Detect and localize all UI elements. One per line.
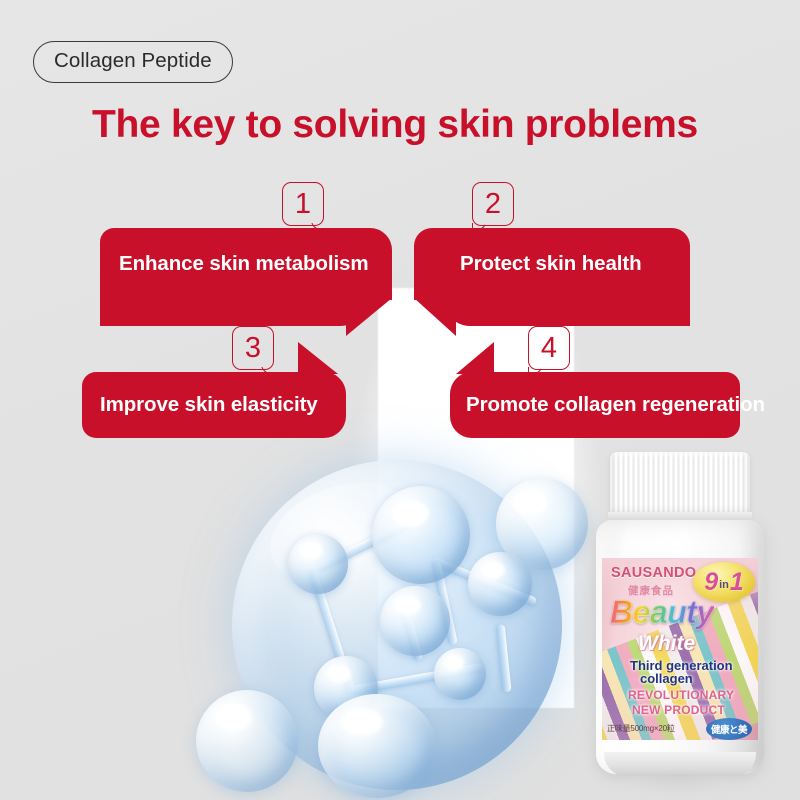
benefit-number-4-text: 4 — [541, 334, 557, 363]
product-tagline-line2: NEW PRODUCT — [632, 703, 725, 717]
callout-pointer-icon — [346, 298, 392, 336]
benefit-number-3: 3 — [232, 326, 274, 370]
category-badge: Collagen Peptide — [33, 41, 233, 83]
benefit-label-2: Protect skin health — [460, 252, 642, 276]
benefit-number-2: 2 — [472, 182, 514, 226]
callout-pointer-icon — [298, 342, 338, 374]
product-net-weight: 正味量500mg×20粒 — [607, 723, 675, 734]
molecule-bond — [308, 569, 356, 694]
product-name-white: White — [638, 632, 695, 656]
bottle-reflection — [618, 774, 742, 800]
benefit-number-1-text: 1 — [295, 190, 311, 219]
benefit-label-3: Improve skin elasticity — [100, 393, 318, 417]
benefit-callout-3[interactable]: Improve skin elasticity — [82, 372, 346, 438]
page-title: The key to solving skin problems — [92, 103, 698, 147]
nine-in-one-badge: 9 in 1 — [693, 562, 755, 602]
product-descriptor-line2: collagen — [640, 671, 693, 686]
badge-count: 9 — [704, 570, 718, 595]
product-bottle[interactable]: SAUSANDO 健康食品 Beauty White Third generat… — [592, 452, 768, 782]
product-name-beauty: Beauty — [610, 594, 714, 631]
badge-connector: in — [719, 580, 729, 591]
callout-curve — [100, 298, 366, 326]
benefit-label-1: Enhance skin metabolism — [119, 252, 368, 276]
benefit-callout-4[interactable]: Promote collagen regeneration — [450, 372, 740, 438]
benefit-number-2-text: 2 — [485, 190, 501, 219]
benefit-label-4: Promote collagen regeneration — [466, 393, 765, 417]
benefit-number-1: 1 — [282, 182, 324, 226]
floating-bubble — [196, 690, 298, 792]
bottle-body: SAUSANDO 健康食品 Beauty White Third generat… — [596, 520, 764, 774]
benefit-callout-2[interactable]: Protect skin health — [414, 228, 690, 300]
callout-pointer-icon — [456, 342, 494, 374]
molecule-atom — [288, 534, 348, 594]
infographic-canvas: Collagen Peptide The key to solving skin… — [0, 0, 800, 800]
benefit-number-3-text: 3 — [245, 334, 261, 363]
callout-curve — [444, 298, 690, 326]
product-brand: SAUSANDO — [611, 565, 696, 581]
product-tagline-line1: REVOLUTIONARY — [628, 688, 734, 702]
bottle-label: SAUSANDO 健康食品 Beauty White Third generat… — [602, 558, 758, 740]
benefit-callout-1[interactable]: Enhance skin metabolism — [100, 228, 392, 300]
product-jp-seal: 健康と美 — [706, 718, 752, 740]
callout-pointer-icon — [414, 298, 456, 336]
badge-unit: 1 — [730, 570, 744, 595]
bottle-cap — [610, 452, 750, 518]
bottle-base — [604, 752, 756, 776]
benefit-number-4: 4 — [528, 326, 570, 370]
